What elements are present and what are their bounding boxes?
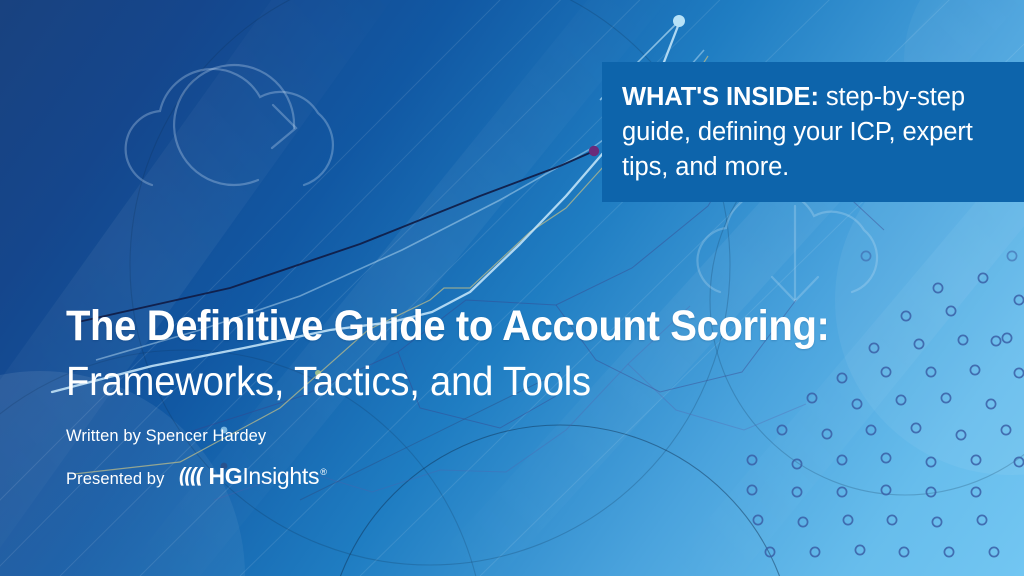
author-byline: Written by Spencer Hardey: [66, 426, 266, 446]
page-title: The Definitive Guide to Account Scoring:: [66, 300, 922, 352]
trend-endpoint-dot-magenta: [589, 146, 599, 156]
hg-swoosh-icon: [178, 464, 208, 493]
presented-by-label: Presented by: [66, 469, 164, 489]
hg-insights-logo: HGInsights®: [178, 464, 326, 493]
cloud-refresh-icon: [126, 65, 333, 185]
whats-inside-callout: WHAT'S INSIDE: step-by-step guide, defin…: [602, 62, 1024, 202]
callout-lead-label: WHAT'S INSIDE:: [622, 83, 819, 111]
trend-endpoint-dot-light: [673, 15, 685, 27]
trend-line-dark: [78, 151, 594, 322]
callout-text: WHAT'S INSIDE: step-by-step guide, defin…: [622, 80, 1002, 185]
presented-by-row: Presented by HGInsights®: [66, 464, 327, 493]
page-subtitle: Frameworks, Tactics, and Tools: [66, 356, 922, 406]
registered-mark-icon: ®: [320, 461, 326, 484]
logo-brand-regular: Insights: [242, 465, 319, 488]
hg-insights-wordmark: HGInsights®: [208, 465, 326, 493]
cover-page: WHAT'S INSIDE: step-by-step guide, defin…: [0, 0, 1024, 576]
title-block: The Definitive Guide to Account Scoring:…: [66, 300, 986, 406]
logo-brand-bold: HG: [208, 465, 242, 488]
cloud-download-icon: [697, 190, 877, 301]
